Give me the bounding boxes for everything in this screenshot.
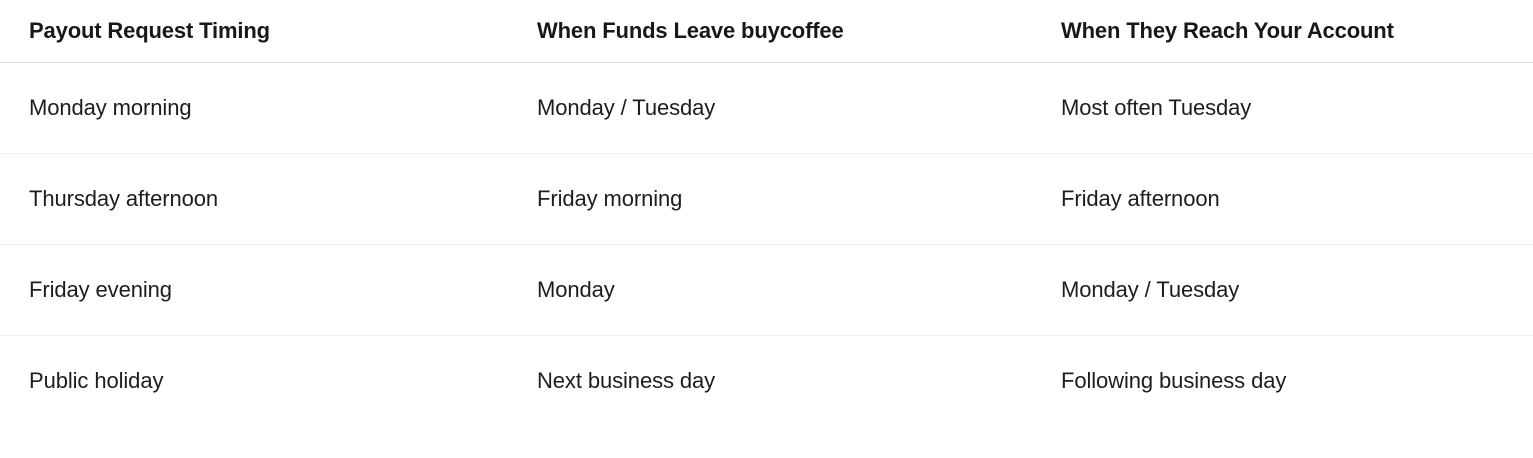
- table-row: Monday morning Monday / Tuesday Most oft…: [0, 63, 1533, 154]
- table-header-row: Payout Request Timing When Funds Leave b…: [0, 0, 1533, 63]
- cell-funds-leave: Monday / Tuesday: [504, 63, 1028, 154]
- table-row: Thursday afternoon Friday morning Friday…: [0, 154, 1533, 245]
- cell-funds-leave: Next business day: [504, 336, 1028, 427]
- cell-reach-account: Most often Tuesday: [1028, 63, 1533, 154]
- column-header-when-they-reach-your-account: When They Reach Your Account: [1028, 0, 1533, 63]
- cell-reach-account: Following business day: [1028, 336, 1533, 427]
- cell-timing: Public holiday: [0, 336, 504, 427]
- cell-funds-leave: Friday morning: [504, 154, 1028, 245]
- table-body: Monday morning Monday / Tuesday Most oft…: [0, 63, 1533, 427]
- cell-reach-account: Friday afternoon: [1028, 154, 1533, 245]
- cell-reach-account: Monday / Tuesday: [1028, 245, 1533, 336]
- payout-timing-table: Payout Request Timing When Funds Leave b…: [0, 0, 1533, 426]
- cell-timing: Friday evening: [0, 245, 504, 336]
- payout-timing-table-container: Payout Request Timing When Funds Leave b…: [0, 0, 1533, 458]
- table-header: Payout Request Timing When Funds Leave b…: [0, 0, 1533, 63]
- table-row: Public holiday Next business day Followi…: [0, 336, 1533, 427]
- column-header-payout-request-timing: Payout Request Timing: [0, 0, 504, 63]
- column-header-when-funds-leave: When Funds Leave buycoffee: [504, 0, 1028, 63]
- cell-funds-leave: Monday: [504, 245, 1028, 336]
- table-row: Friday evening Monday Monday / Tuesday: [0, 245, 1533, 336]
- cell-timing: Thursday afternoon: [0, 154, 504, 245]
- cell-timing: Monday morning: [0, 63, 504, 154]
